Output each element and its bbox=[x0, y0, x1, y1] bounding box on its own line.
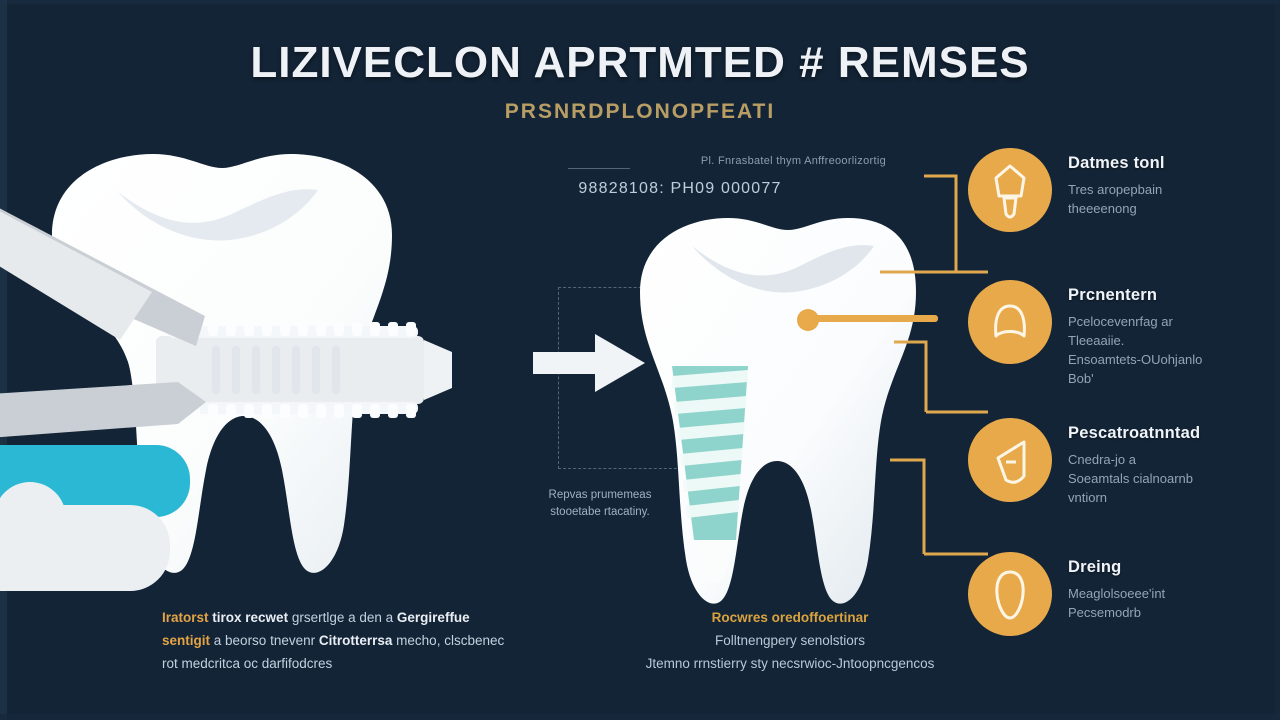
legend-badge-0 bbox=[968, 148, 1052, 232]
legend-text-3: Dreing Meaglolsoeee'int Pecsemodrb bbox=[1068, 558, 1278, 622]
legend-badge-1 bbox=[968, 280, 1052, 364]
bottom-mid-caption: Rocwres oredoffoertinar Folltnengpery se… bbox=[600, 606, 980, 675]
left-procedure-scene bbox=[0, 140, 540, 600]
legend-text-1: Prcnentern Pcelocevenrfag ar Tleeaaiie. … bbox=[1068, 286, 1278, 388]
legend-item-1[interactable]: Prcnentern Pcelocevenrfag ar Tleeaaiie. … bbox=[960, 280, 1280, 376]
bl-line2-b: a beorso tnevenr bbox=[214, 633, 315, 648]
legend-text-2: Pescatroatnntad Cnedra-jo a Soeamtals ci… bbox=[1068, 424, 1278, 507]
bl-line2-a: sentigit bbox=[162, 633, 210, 648]
dental-crown-icon bbox=[996, 306, 1025, 336]
bl-line1-a: Iratorst bbox=[162, 610, 209, 625]
legend-text-0: Datmes tonl Tres aropepbain theeeenong bbox=[1068, 154, 1278, 218]
bottom-left-caption: Iratorst tirox recwet grsertlge a den a … bbox=[162, 606, 592, 675]
bl-line1-c: grsertlge a den a bbox=[292, 610, 393, 625]
meta-code: 98828108: PH09 000077 bbox=[540, 180, 820, 198]
legend-item-2[interactable]: Pescatroatnntad Cnedra-jo a Soeamtals ci… bbox=[960, 418, 1280, 514]
legend-title-0: Datmes tonl bbox=[1068, 154, 1278, 173]
bl-line1-d: Gergireffue bbox=[397, 610, 470, 625]
bm-line2: Folltnengpery senolstiors bbox=[715, 633, 865, 648]
legend-desc-0: Tres aropepbain theeeenong bbox=[1068, 180, 1278, 218]
right-result-scene bbox=[620, 210, 920, 610]
legend-desc-2: Cnedra-jo a Soeamtals cialnoarnb vntiorn bbox=[1068, 450, 1278, 507]
legend-item-3[interactable]: Dreing Meaglolsoeee'int Pecsemodrb bbox=[960, 552, 1280, 648]
bl-line3: rot medcritca oc darfifodcres bbox=[162, 656, 332, 671]
legend-title-3: Dreing bbox=[1068, 558, 1278, 577]
legend-title-1: Prcnentern bbox=[1068, 286, 1278, 305]
legend-item-0[interactable]: Datmes tonl Tres aropepbain theeeenong bbox=[960, 148, 1280, 244]
bm-line1: Rocwres oredoffoertinar bbox=[712, 610, 869, 625]
legend-badge-2 bbox=[968, 418, 1052, 502]
bm-line3: Jtemno rrnstierry sty necsrwioc-Jntoopnc… bbox=[646, 656, 935, 671]
legend-panel: Datmes tonl Tres aropepbain theeeenong P… bbox=[960, 0, 1280, 720]
meta-label: Pl. Fnrasbatel thym Anffreoorlizortig bbox=[556, 155, 886, 167]
legend-desc-1: Pcelocevenrfag ar Tleeaaiie. Ensoamtets-… bbox=[1068, 312, 1278, 388]
infographic-canvas: LIZIVECLON APRTMTED # REMSES PRSNRDPLONO… bbox=[0, 0, 1280, 720]
legend-badge-3 bbox=[968, 552, 1052, 636]
tooth-root-icon bbox=[998, 442, 1024, 482]
meta-rule-divider bbox=[568, 168, 630, 169]
bl-line1-b: tirox recwet bbox=[212, 610, 288, 625]
legend-title-2: Pescatroatnntad bbox=[1068, 424, 1278, 443]
implant-post-icon bbox=[996, 166, 1024, 217]
bl-line2-d: mecho, clscbenec bbox=[396, 633, 504, 648]
single-tooth-icon bbox=[997, 572, 1023, 618]
legend-desc-3: Meaglolsoeee'int Pecsemodrb bbox=[1068, 584, 1278, 622]
bl-line2-c: Citrotterrsa bbox=[319, 633, 393, 648]
